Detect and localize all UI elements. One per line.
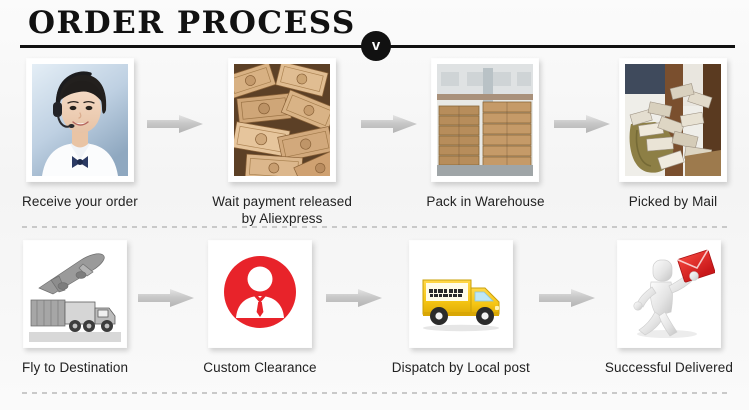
step-label: Dispatch by Local post [392,359,530,376]
arrow-right-icon [326,288,382,308]
arrow-cell [138,58,212,218]
yellow-delivery-truck-icon [415,246,507,342]
mail-sack-parcels-photo [625,64,721,176]
step-image-card [617,240,721,348]
process-step-picked-by-mail[interactable]: Picked by Mail [619,58,727,218]
process-step-custom-clearance[interactable]: Custom Clearance [203,240,316,390]
step-label: Picked by Mail [629,193,717,210]
step-image-card [431,58,539,182]
cash-money-stack-illustration [234,64,330,176]
process-step-pack-warehouse[interactable]: Pack in Warehouse [426,58,544,218]
arrow-cell [317,240,392,390]
arrow-right-icon [539,288,595,308]
step-label: Fly to Destination [22,359,128,376]
process-step-dispatch-local-post[interactable]: Dispatch by Local post [392,240,530,390]
arrow-right-icon [554,114,610,134]
arrow-cell [545,58,619,218]
step-label: Pack in Warehouse [426,193,544,210]
step-image-card [228,58,336,182]
process-step-receive-order[interactable]: Receive your order [22,58,138,218]
mail-sack-parcels-illustration [625,64,721,176]
step-image-card [619,58,727,182]
delivered-figure-illustration [623,246,715,342]
process-row-1: Receive your order [0,58,749,218]
process-step-fly-destination[interactable]: Fly to Destination [22,240,128,390]
customs-officer-red-icon [214,246,306,342]
arrow-cell [128,240,203,390]
chevron-down-badge-label: v [372,38,380,53]
chevron-down-badge-icon: v [361,31,391,61]
person-red-envelope-icon [623,246,715,342]
page-title: ORDER PROCESS [28,5,356,41]
call-center-agent-illustration [32,64,128,176]
order-process-banner: ORDER PROCESS v [0,0,749,410]
step-label: Wait payment released by Aliexpress [212,193,352,227]
arrow-right-icon [361,114,417,134]
customs-officer-illustration [214,246,306,342]
cash-money-stack-photo [234,64,330,176]
warehouse-cartons-illustration [437,64,533,176]
delivery-truck-illustration [415,246,507,342]
step-label: Receive your order [22,193,138,210]
step-image-card [26,58,134,182]
step-label: Custom Clearance [203,359,316,376]
call-center-agent-photo [32,64,128,176]
airplane-truck-freight-illustration [29,246,121,342]
divider-middle [22,226,728,228]
arrow-cell [352,58,426,218]
step-label: Successful Delivered [605,359,733,376]
arrow-cell [530,240,605,390]
warehouse-cartons-photo [437,64,533,176]
step-image-card [208,240,312,348]
divider-bottom [22,392,728,394]
process-step-wait-payment[interactable]: Wait payment released by Aliexpress [212,58,352,218]
airplane-truck-freight-photo [29,246,121,342]
arrow-right-icon [147,114,203,134]
header: ORDER PROCESS v [0,0,749,58]
step-image-card [23,240,127,348]
process-row-2: Fly to Destination [0,240,749,390]
arrow-right-icon [138,288,194,308]
process-step-successful-delivered[interactable]: Successful Delivered [605,240,733,390]
step-image-card [409,240,513,348]
